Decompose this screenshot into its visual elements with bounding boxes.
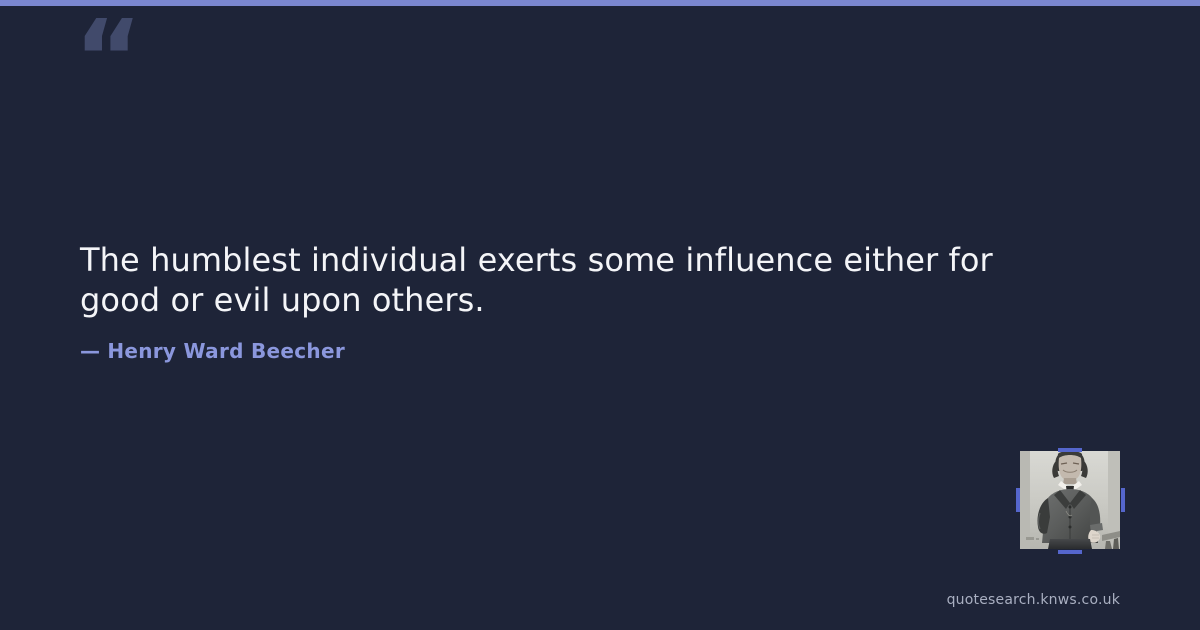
quote-block: The humblest individual exerts some infl… [80, 240, 1020, 321]
crop-handle-left[interactable] [1016, 488, 1020, 512]
site-watermark: quotesearch.knws.co.uk [947, 592, 1120, 608]
portrait-thumbnail[interactable] [1020, 451, 1120, 549]
portrait-image [1020, 451, 1120, 549]
crop-handle-bottom[interactable] [1058, 550, 1082, 554]
top-accent-bar [0, 0, 1200, 6]
crop-handle-right[interactable] [1121, 488, 1125, 512]
quote-text: The humblest individual exerts some infl… [80, 240, 1020, 321]
opening-quote-icon: “ [74, 6, 140, 110]
attribution-author: Henry Ward Beecher [107, 339, 345, 363]
attribution: —Henry Ward Beecher [80, 339, 345, 363]
quote-card: “ The humblest individual exerts some in… [0, 0, 1200, 630]
crop-handle-top[interactable] [1058, 448, 1082, 452]
attribution-dash: — [80, 339, 100, 363]
